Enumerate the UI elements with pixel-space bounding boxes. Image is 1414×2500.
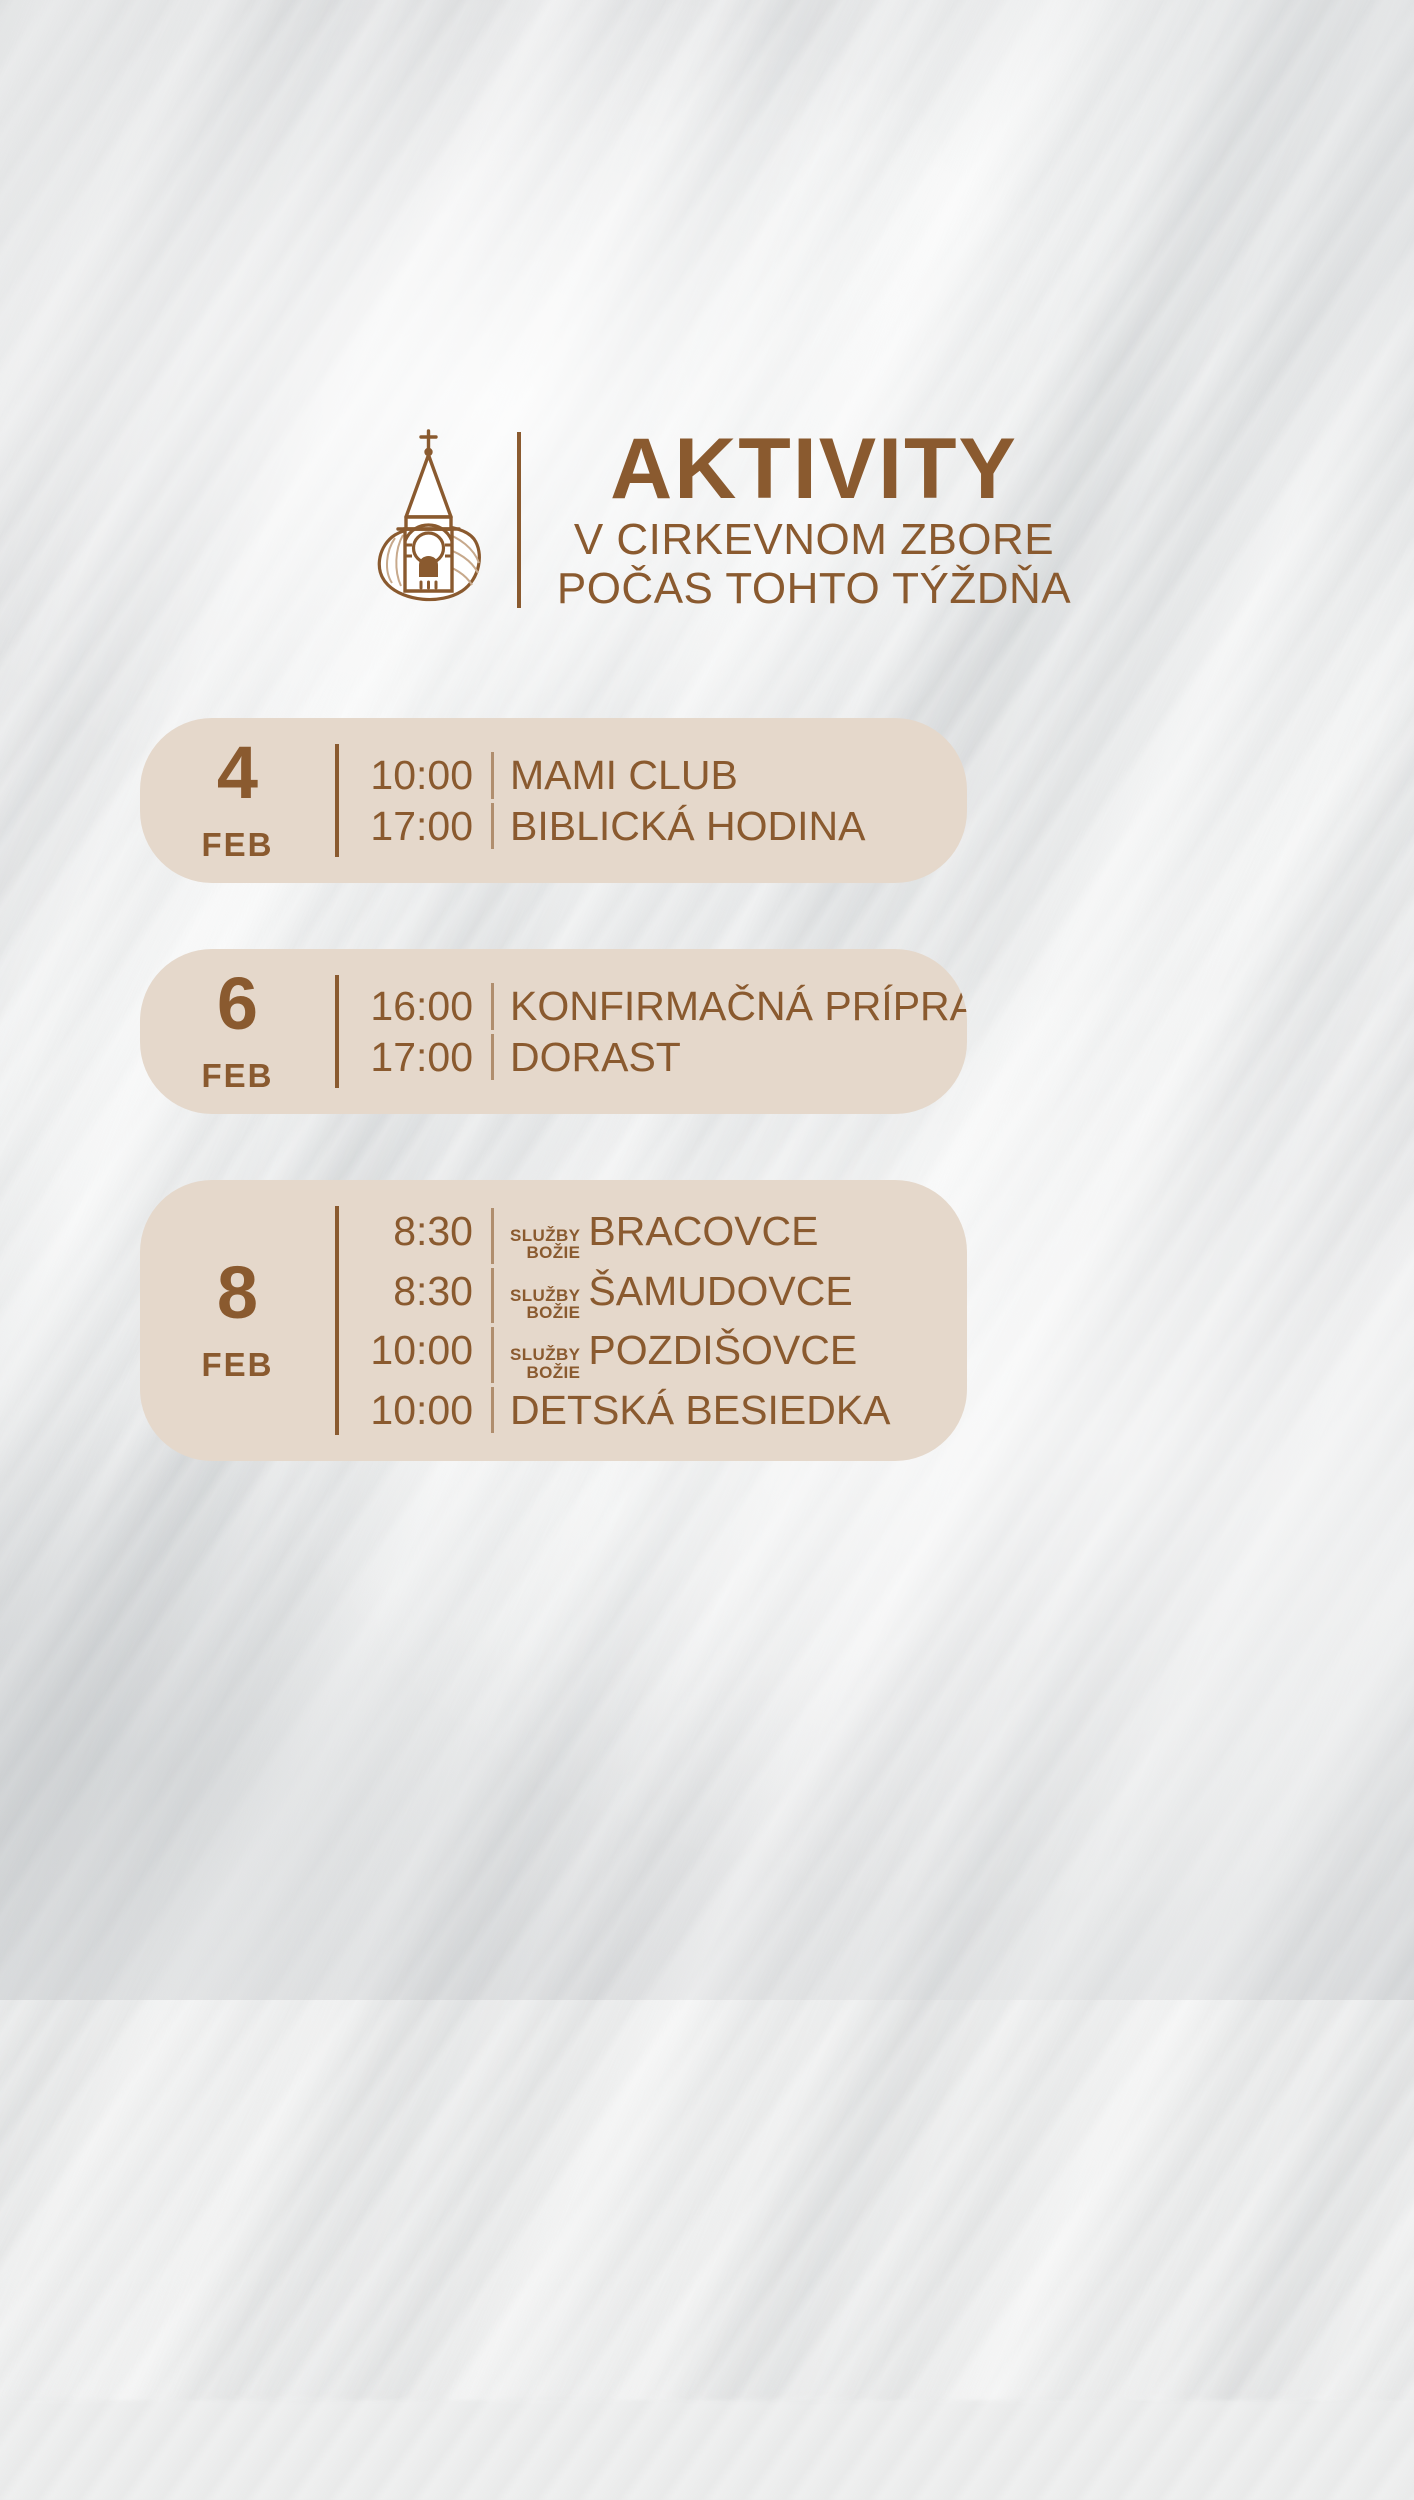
event-time: 17:00 <box>339 1032 491 1082</box>
event-title: ŠAMUDOVCE <box>588 1266 852 1316</box>
event-row: 8:30 SLUŽBY BOŽIE BRACOVCE <box>339 1206 967 1266</box>
poster-page: AKTIVITY V CIRKEVNOM ZBORE POČAS TOHTO T… <box>0 0 1414 2000</box>
event-entry: SLUŽBY BOŽIE BRACOVCE <box>494 1206 819 1266</box>
event-card: NEDEĽA - NEDEĽA PO DEVIATNIKU 8 FEB 8:30… <box>0 1180 1414 1461</box>
page-subtitle-line2: POČAS TOHTO TÝŽDŇA <box>557 564 1071 613</box>
month-label: FEB <box>202 1348 274 1381</box>
page-subtitle-line1: V CIRKEVNOM ZBORE <box>574 515 1054 564</box>
date-box: 8 FEB <box>140 1180 335 1461</box>
event-time: 16:00 <box>339 981 491 1031</box>
header-titles: AKTIVITY V CIRKEVNOM ZBORE POČAS TOHTO T… <box>557 427 1071 614</box>
event-title: DORAST <box>510 1032 681 1082</box>
event-rows: 8:30 SLUŽBY BOŽIE BRACOVCE 8:30 <box>339 1180 967 1461</box>
event-time: 8:30 <box>339 1206 491 1256</box>
event-title: DETSKÁ BESIEDKA <box>510 1385 891 1435</box>
event-entry: SLUŽBY BOŽIE POZDIŠOVCE <box>494 1325 857 1385</box>
event-entry: KONFIRMAČNÁ PRÍPRAVA <box>494 981 967 1031</box>
event-card: STREDA 4 FEB 10:00 MAMI CLUB <box>0 718 1414 883</box>
poster-header: AKTIVITY V CIRKEVNOM ZBORE POČAS TOHTO T… <box>0 420 1414 620</box>
service-badge-line1: SLUŽBY <box>510 1287 580 1304</box>
event-entry: BIBLICKÁ HODINA <box>494 801 865 851</box>
event-time: 17:00 <box>339 801 491 851</box>
event-time: 8:30 <box>339 1266 491 1316</box>
event-title: BRACOVCE <box>588 1206 818 1256</box>
event-title: BIBLICKÁ HODINA <box>510 801 865 851</box>
event-row: 10:00 DETSKÁ BESIEDKA <box>339 1385 967 1435</box>
day-number: 6 <box>217 967 258 1041</box>
day-number: 4 <box>217 736 258 810</box>
service-badge-line2: BOŽIE <box>526 1364 580 1381</box>
month-label: FEB <box>202 828 274 861</box>
event-time: 10:00 <box>339 1385 491 1435</box>
event-rows: 10:00 MAMI CLUB 17:00 BIBLICKÁ HODINA <box>339 718 967 883</box>
date-box: 4 FEB <box>140 718 335 883</box>
event-row: 10:00 MAMI CLUB <box>339 750 967 800</box>
event-title: POZDIŠOVCE <box>588 1325 857 1375</box>
event-time: 10:00 <box>339 750 491 800</box>
day-number: 8 <box>217 1256 258 1330</box>
event-row: 17:00 BIBLICKÁ HODINA <box>339 801 967 851</box>
event-entry: SLUŽBY BOŽIE ŠAMUDOVCE <box>494 1266 853 1326</box>
event-card-list: STREDA 4 FEB 10:00 MAMI CLUB <box>0 690 1414 1527</box>
event-time: 10:00 <box>339 1325 491 1375</box>
header-divider <box>517 432 521 608</box>
service-badge: SLUŽBY BOŽIE <box>510 1346 580 1381</box>
event-title: MAMI CLUB <box>510 750 738 800</box>
event-entry: DETSKÁ BESIEDKA <box>494 1385 891 1435</box>
event-title: KONFIRMAČNÁ PRÍPRAVA <box>510 981 967 1031</box>
event-row: 17:00 DORAST <box>339 1032 967 1082</box>
date-box: 6 FEB <box>140 949 335 1114</box>
event-card-body: 8 FEB 8:30 SLUŽBY BOŽIE BRACOVCE <box>140 1180 967 1461</box>
service-badge: SLUŽBY BOŽIE <box>510 1287 580 1322</box>
service-badge: SLUŽBY BOŽIE <box>510 1227 580 1262</box>
event-row: 16:00 KONFIRMAČNÁ PRÍPRAVA <box>339 981 967 1031</box>
service-badge-line1: SLUŽBY <box>510 1227 580 1244</box>
month-label: FEB <box>202 1059 274 1092</box>
event-entry: MAMI CLUB <box>494 750 738 800</box>
page-title: AKTIVITY <box>610 427 1018 511</box>
event-card: PIATOK 6 FEB 16:00 KONFIRMAČNÁ PRÍPRAVA <box>0 949 1414 1114</box>
event-row: 8:30 SLUŽBY BOŽIE ŠAMUDOVCE <box>339 1266 967 1326</box>
church-logo-icon <box>343 420 503 620</box>
event-card-body: 4 FEB 10:00 MAMI CLUB 17:00 <box>140 718 967 883</box>
event-rows: 16:00 KONFIRMAČNÁ PRÍPRAVA 17:00 DORAST <box>339 949 967 1114</box>
service-badge-line1: SLUŽBY <box>510 1346 580 1363</box>
event-row: 10:00 SLUŽBY BOŽIE POZDIŠOVCE <box>339 1325 967 1385</box>
event-entry: DORAST <box>494 1032 681 1082</box>
event-card-body: 6 FEB 16:00 KONFIRMAČNÁ PRÍPRAVA 17:00 <box>140 949 967 1114</box>
service-badge-line2: BOŽIE <box>526 1244 580 1261</box>
service-badge-line2: BOŽIE <box>526 1304 580 1321</box>
